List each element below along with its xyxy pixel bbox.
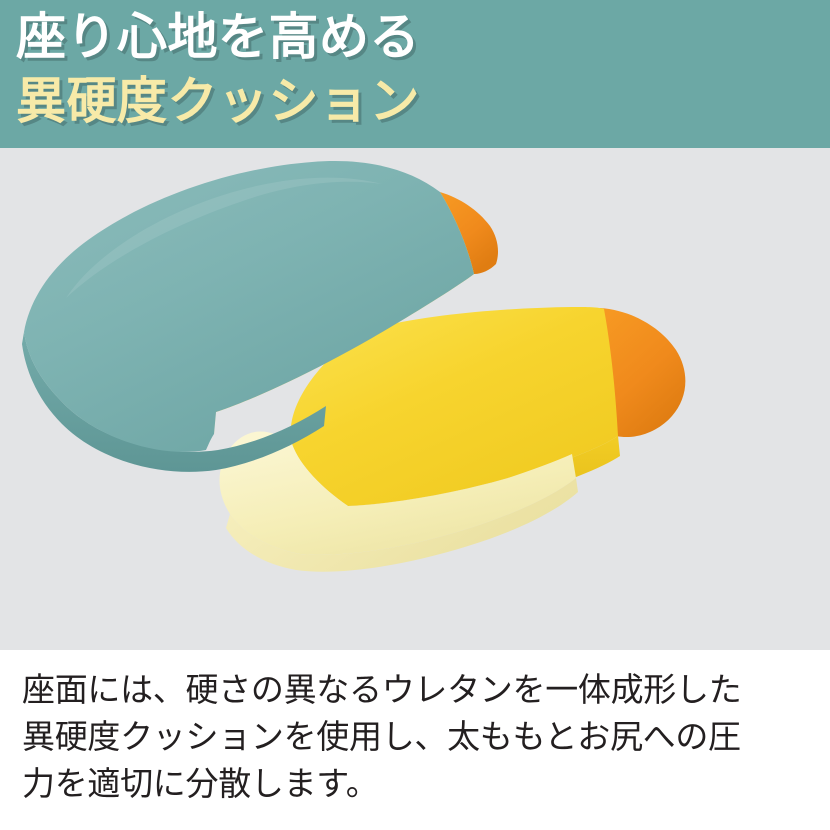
product-feature-card: 座り心地を高める 異硬度クッション bbox=[0, 0, 830, 830]
header-banner: 座り心地を高める 異硬度クッション bbox=[0, 0, 830, 148]
headline-line-primary: 座り心地を高める bbox=[16, 6, 816, 62]
headline-line-secondary: 異硬度クッション bbox=[16, 62, 816, 126]
caption-block: 座面には、硬さの異なるウレタンを一体成形した 異硬度クッションを使用し、太ももと… bbox=[0, 650, 830, 830]
headline: 座り心地を高める 異硬度クッション bbox=[16, 6, 816, 126]
caption-line: 力を適切に分散します。 bbox=[22, 760, 808, 807]
caption-line: 座面には、硬さの異なるウレタンを一体成形した bbox=[22, 666, 808, 713]
cushion-exploded-diagram bbox=[0, 148, 830, 650]
caption-line: 異硬度クッションを使用し、太ももとお尻への圧 bbox=[22, 713, 808, 760]
cushion-illustration: Soft Hard bbox=[0, 148, 830, 650]
